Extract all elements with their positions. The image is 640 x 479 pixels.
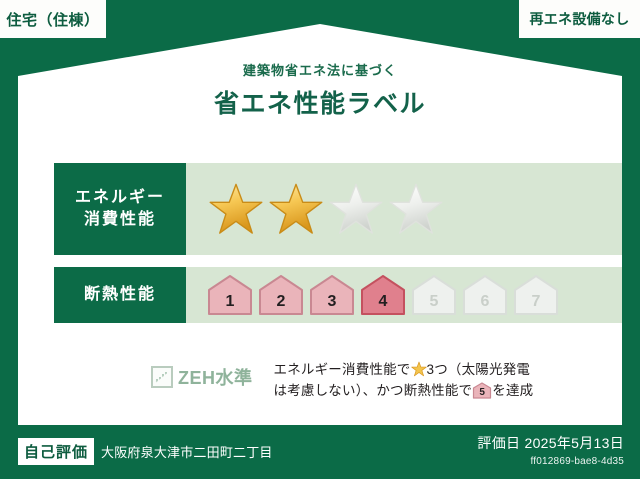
zeh-line2-text-a: は考慮しない）、かつ断熱性能で (274, 383, 473, 398)
house-icon: 1 (206, 274, 254, 316)
star-icon (411, 361, 427, 377)
insulation-level-number: 4 (359, 293, 407, 311)
energy-performance-row: エネルギー 消費性能 (54, 163, 622, 255)
energy-performance-label: エネルギー 消費性能 (54, 163, 186, 255)
star-icon (388, 182, 444, 236)
zeh-section: ZEH水準 エネルギー消費性能で3つ（太陽光発電 は考慮しない）、かつ断熱性能で… (151, 360, 533, 402)
insulation-level-number: 6 (461, 293, 509, 311)
building-type-badge-label: 住宅（住棟） (6, 9, 99, 30)
insulation-performance-value: 1 2 3 4 (186, 267, 622, 323)
house-icon: 5 (410, 274, 458, 316)
zeh-line1-text-b: 3つ（太陽光発電 (427, 362, 531, 377)
zeh-description-line2: は考慮しない）、かつ断熱性能で5を達成 (274, 381, 534, 402)
house-icon-badge: 5 (472, 382, 492, 399)
insulation-level-number: 7 (512, 293, 560, 311)
star-icon (268, 182, 324, 236)
self-evaluation-chip: 自己評価 (18, 438, 94, 465)
energy-label-root: 住宅（住棟） 再エネ設備なし 建築物省エネ法に基づく 省エネ性能ラベル エネルギ… (0, 0, 640, 479)
renewable-equipment-badge-label: 再エネ設備なし (529, 9, 629, 29)
zeh-description-line1: エネルギー消費性能で3つ（太陽光発電 (274, 360, 534, 381)
star-rating (208, 182, 444, 236)
evaluation-date: 評価日 2025年5月13日 (477, 433, 624, 453)
energy-performance-value (186, 163, 622, 255)
insulation-level-number: 5 (410, 293, 458, 311)
zeh-line1-text-a: エネルギー消費性能で (274, 362, 411, 377)
title-block: 建築物省エネ法に基づく 省エネ性能ラベル (18, 60, 622, 120)
zeh-mark: ZEH水準 (151, 364, 253, 390)
insulation-performance-label: 断熱性能 (54, 267, 186, 323)
title-subtitle: 建築物省エネ法に基づく (18, 60, 622, 79)
house-icon: 7 (512, 274, 560, 316)
evaluation-footer: 自己評価 大阪府泉大津市二田町二丁目 (18, 438, 273, 465)
zeh-chart-icon (151, 366, 173, 388)
house-icon-achieved: 4 (359, 274, 407, 316)
evaluation-meta: 評価日 2025年5月13日 ff012869-bae8-4d35 (477, 433, 624, 467)
house-icon: 2 (257, 274, 305, 316)
energy-label-line1: エネルギー (75, 187, 165, 209)
label-card: 建築物省エネ法に基づく 省エネ性能ラベル エネルギー 消費性能 (18, 24, 622, 425)
zeh-badge-number: 5 (472, 388, 492, 398)
insulation-level-number: 3 (308, 293, 356, 311)
insulation-label-text: 断熱性能 (84, 284, 156, 306)
zeh-description: エネルギー消費性能で3つ（太陽光発電 は考慮しない）、かつ断熱性能で5を達成 (274, 360, 534, 402)
star-icon (328, 182, 384, 236)
house-icon: 6 (461, 274, 509, 316)
insulation-level-number: 1 (206, 293, 254, 311)
insulation-scale: 1 2 3 4 (206, 274, 560, 316)
star-icon (208, 182, 264, 236)
insulation-performance-row: 断熱性能 1 2 3 (54, 267, 622, 323)
insulation-level-number: 2 (257, 293, 305, 311)
building-type-badge: 住宅（住棟） (0, 0, 106, 38)
document-id: ff012869-bae8-4d35 (477, 456, 624, 467)
house-icon: 3 (308, 274, 356, 316)
zeh-mark-label: ZEH水準 (178, 364, 253, 390)
page-title: 省エネ性能ラベル (18, 84, 622, 120)
zeh-line2-text-b: を達成 (492, 383, 533, 398)
energy-label-line2: 消費性能 (84, 209, 156, 231)
property-address: 大阪府泉大津市二田町二丁目 (101, 442, 273, 461)
renewable-equipment-badge: 再エネ設備なし (519, 0, 640, 38)
